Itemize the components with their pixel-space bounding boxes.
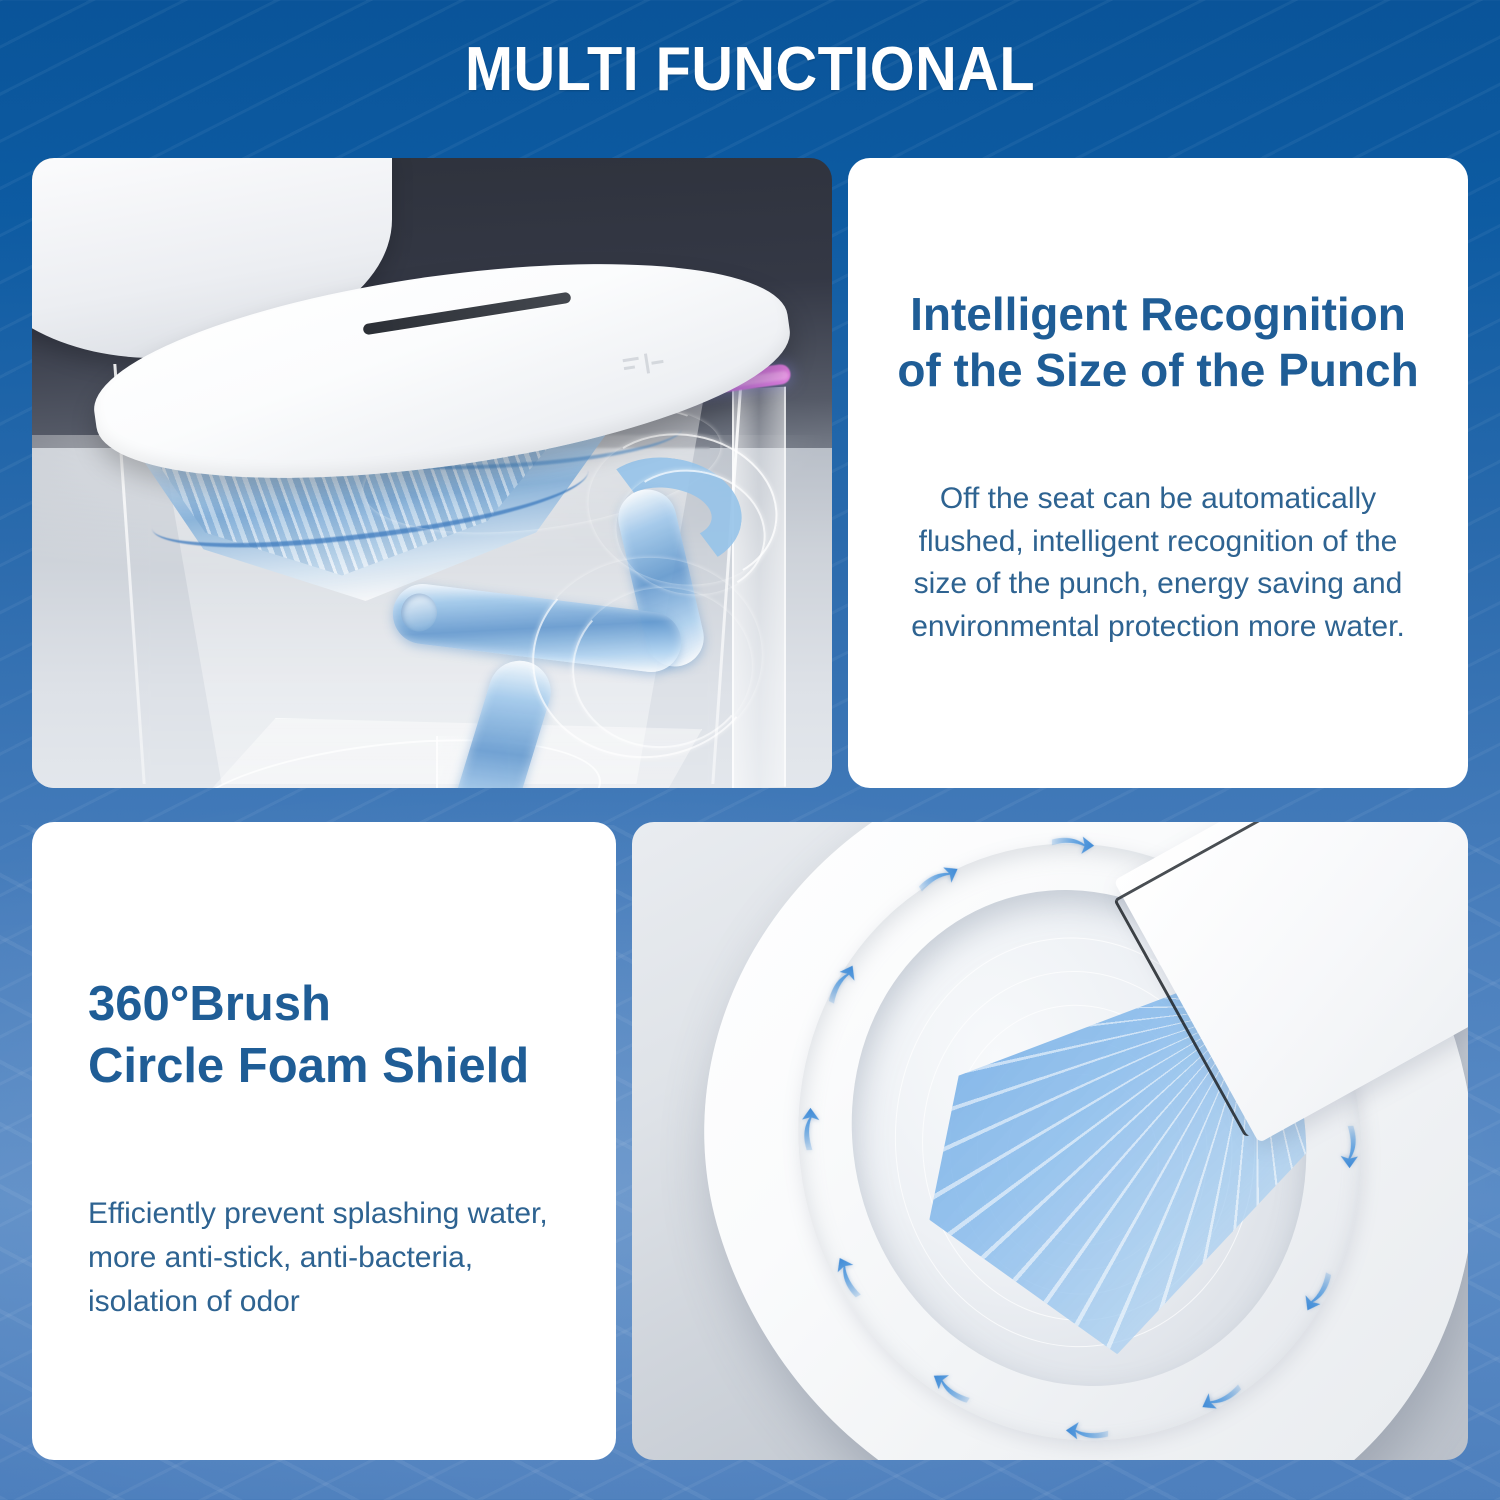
feature-heading-line1: Intelligent Recognition (874, 286, 1442, 342)
circulation-arrow-icon (1327, 1123, 1374, 1170)
feature-text-intelligent-recognition: Intelligent Recognition of the Size of t… (848, 158, 1468, 788)
feature-body-text: Efficiently prevent splashing water, mor… (32, 1192, 616, 1323)
circulation-arrow-icon (786, 1106, 833, 1153)
feature-heading: Intelligent Recognition of the Size of t… (848, 286, 1468, 398)
feature-heading: 360°Brush Circle Foam Shield (32, 974, 616, 1097)
feature-image-foam-shield (632, 822, 1468, 1460)
feature-text-foam-shield: 360°Brush Circle Foam Shield Efficiently… (32, 822, 616, 1460)
circulation-arrow-icon (1049, 822, 1096, 868)
page-title: MULTI FUNCTIONAL (53, 34, 1448, 105)
feature-heading-line2: of the Size of the Punch (874, 342, 1442, 398)
feature-heading-line2: Circle Foam Shield (88, 1036, 560, 1098)
feature-heading-line1: 360°Brush (88, 974, 560, 1036)
feature-body-text: Off the seat can be automatically flushe… (848, 478, 1468, 648)
toilet-rear-pillar (732, 387, 786, 788)
feature-image-intelligent-recognition (32, 158, 832, 788)
circulation-arrow-icon (1063, 1408, 1110, 1455)
